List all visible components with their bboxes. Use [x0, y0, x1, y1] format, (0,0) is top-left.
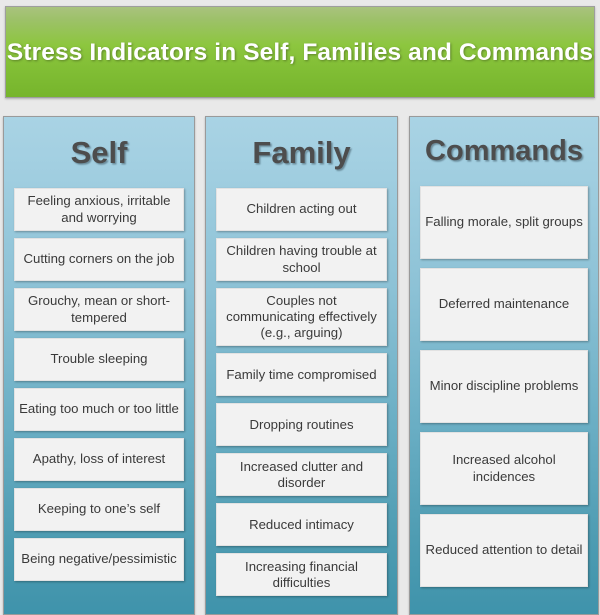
list-item[interactable]: Children having trouble at school: [216, 238, 387, 281]
list-item[interactable]: Trouble sleeping: [14, 338, 184, 381]
list-item-label: Keeping to one’s self: [38, 501, 160, 517]
list-item[interactable]: Reduced attention to detail: [420, 514, 588, 587]
list-item[interactable]: Children acting out: [216, 188, 387, 231]
list-item-label: Reduced attention to detail: [426, 542, 583, 558]
item-list-family: Children acting out Children having trou…: [216, 188, 387, 596]
column-title-family: Family: [216, 137, 387, 168]
list-item-label: Minor discipline problems: [430, 378, 579, 394]
list-item-label: Increasing financial difficulties: [221, 559, 382, 591]
list-item-label: Grouchy, mean or short-tempered: [19, 293, 179, 325]
list-item-label: Children having trouble at school: [221, 243, 382, 275]
list-item[interactable]: Family time compromised: [216, 353, 387, 396]
list-item-label: Children acting out: [247, 201, 357, 217]
list-item[interactable]: Dropping routines: [216, 403, 387, 446]
column-title-commands: Commands: [420, 137, 588, 166]
list-item[interactable]: Minor discipline problems: [420, 350, 588, 423]
stress-indicators-poster: Stress Indicators in Self, Families and …: [0, 0, 600, 615]
column-commands: Commands Falling morale, split groups De…: [409, 116, 599, 615]
list-item-label: Dropping routines: [249, 417, 353, 433]
title-banner: Stress Indicators in Self, Families and …: [5, 6, 595, 98]
item-list-commands: Falling morale, split groups Deferred ma…: [420, 186, 588, 587]
list-item[interactable]: Feeling anxious, irritable and worrying: [14, 188, 184, 231]
column-family: Family Children acting out Children havi…: [205, 116, 398, 615]
item-list-self: Feeling anxious, irritable and worrying …: [14, 188, 184, 581]
list-item[interactable]: Increased alcohol incidences: [420, 432, 588, 505]
list-item[interactable]: Increased clutter and disorder: [216, 453, 387, 496]
list-item[interactable]: Keeping to one’s self: [14, 488, 184, 531]
list-item-label: Cutting corners on the job: [23, 251, 174, 267]
list-item[interactable]: Eating too much or too little: [14, 388, 184, 431]
column-self: Self Feeling anxious, irritable and worr…: [3, 116, 195, 615]
list-item-label: Increased clutter and disorder: [221, 459, 382, 491]
list-item-label: Feeling anxious, irritable and worrying: [19, 193, 179, 225]
list-item-label: Being negative/pessimistic: [21, 551, 176, 567]
list-item[interactable]: Falling morale, split groups: [420, 186, 588, 259]
list-item-label: Increased alcohol incidences: [425, 452, 583, 484]
list-item[interactable]: Grouchy, mean or short-tempered: [14, 288, 184, 331]
list-item-label: Apathy, loss of interest: [33, 451, 165, 467]
list-item[interactable]: Increasing financial difficulties: [216, 553, 387, 596]
list-item-label: Trouble sleeping: [50, 351, 147, 367]
columns-container: Self Feeling anxious, irritable and worr…: [0, 116, 600, 615]
list-item[interactable]: Apathy, loss of interest: [14, 438, 184, 481]
list-item[interactable]: Couples not communicating effectively (e…: [216, 288, 387, 346]
list-item-label: Family time compromised: [226, 367, 376, 383]
list-item[interactable]: Reduced intimacy: [216, 503, 387, 546]
list-item-label: Falling morale, split groups: [425, 214, 583, 230]
list-item-label: Deferred maintenance: [439, 296, 569, 312]
list-item[interactable]: Deferred maintenance: [420, 268, 588, 341]
list-item[interactable]: Being negative/pessimistic: [14, 538, 184, 581]
page-title: Stress Indicators in Self, Families and …: [7, 39, 593, 67]
list-item-label: Couples not communicating effectively (e…: [221, 293, 382, 341]
list-item[interactable]: Cutting corners on the job: [14, 238, 184, 281]
list-item-label: Reduced intimacy: [249, 517, 354, 533]
list-item-label: Eating too much or too little: [19, 401, 179, 417]
column-title-self: Self: [14, 137, 184, 168]
